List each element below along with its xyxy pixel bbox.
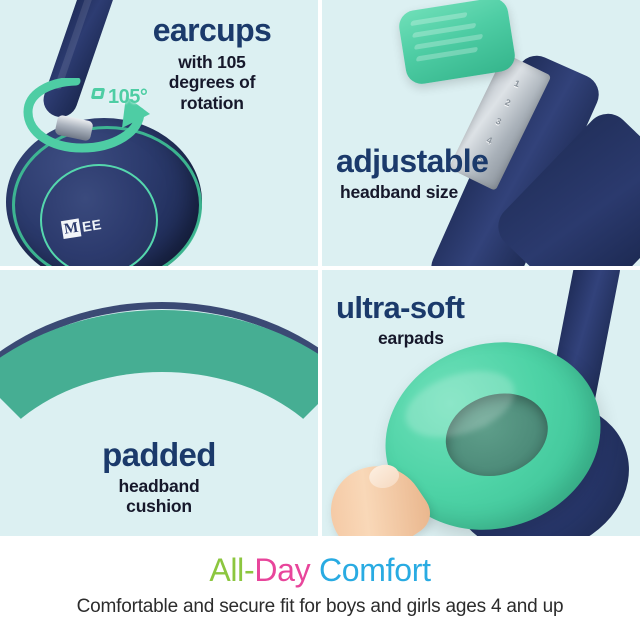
panel-earcups: 105° M EE earcups with 105 degrees of ro… [0, 0, 318, 266]
footer-title-part-comfort: Comfort [310, 552, 430, 588]
grip-ridge [410, 12, 467, 26]
feature-panel-grid: 105° M EE earcups with 105 degrees of ro… [0, 0, 640, 542]
footer-title-part-day: Day [254, 552, 310, 588]
footer-title: All-Day Comfort [0, 554, 640, 588]
padded-subhead: headband cushion [0, 476, 318, 517]
earpads-text-block: ultra-soft earpads [336, 292, 464, 348]
logo-mark: M [61, 218, 82, 239]
earpads-subhead: earpads [378, 328, 464, 348]
slider-mark: 2 [504, 97, 515, 109]
padded-text-block: padded headband cushion [0, 438, 318, 517]
earpads-headline: ultra-soft [336, 292, 464, 323]
footer-title-part-all: All- [209, 552, 254, 588]
degree-tick-marker [91, 88, 105, 99]
slider-mark: 3 [494, 116, 505, 128]
footer-banner: All-Day Comfort Comfortable and secure f… [0, 542, 640, 640]
panel-earpads: ultra-soft earpads [322, 270, 640, 536]
panel-padded: padded headband cushion [0, 270, 318, 536]
adjustable-text-block: adjustable headband size [336, 145, 488, 202]
grip-ridge [416, 47, 479, 62]
panel-adjustable: 1 2 3 4 5 adjustable headband size [322, 0, 640, 266]
padded-headline: padded [0, 438, 318, 471]
adjustable-subhead: headband size [340, 182, 488, 202]
adjustable-headline: adjustable [336, 145, 488, 177]
slider-mark: 1 [513, 78, 524, 90]
earcups-headline: earcups [112, 14, 312, 46]
rotation-arrow-icon [22, 78, 192, 164]
product-feature-infographic: 105° M EE earcups with 105 degrees of ro… [0, 0, 640, 640]
rotation-degree-label: 105° [108, 86, 147, 109]
footer-subtitle: Comfortable and secure fit for boys and … [0, 596, 640, 618]
logo-text: EE [81, 216, 103, 235]
